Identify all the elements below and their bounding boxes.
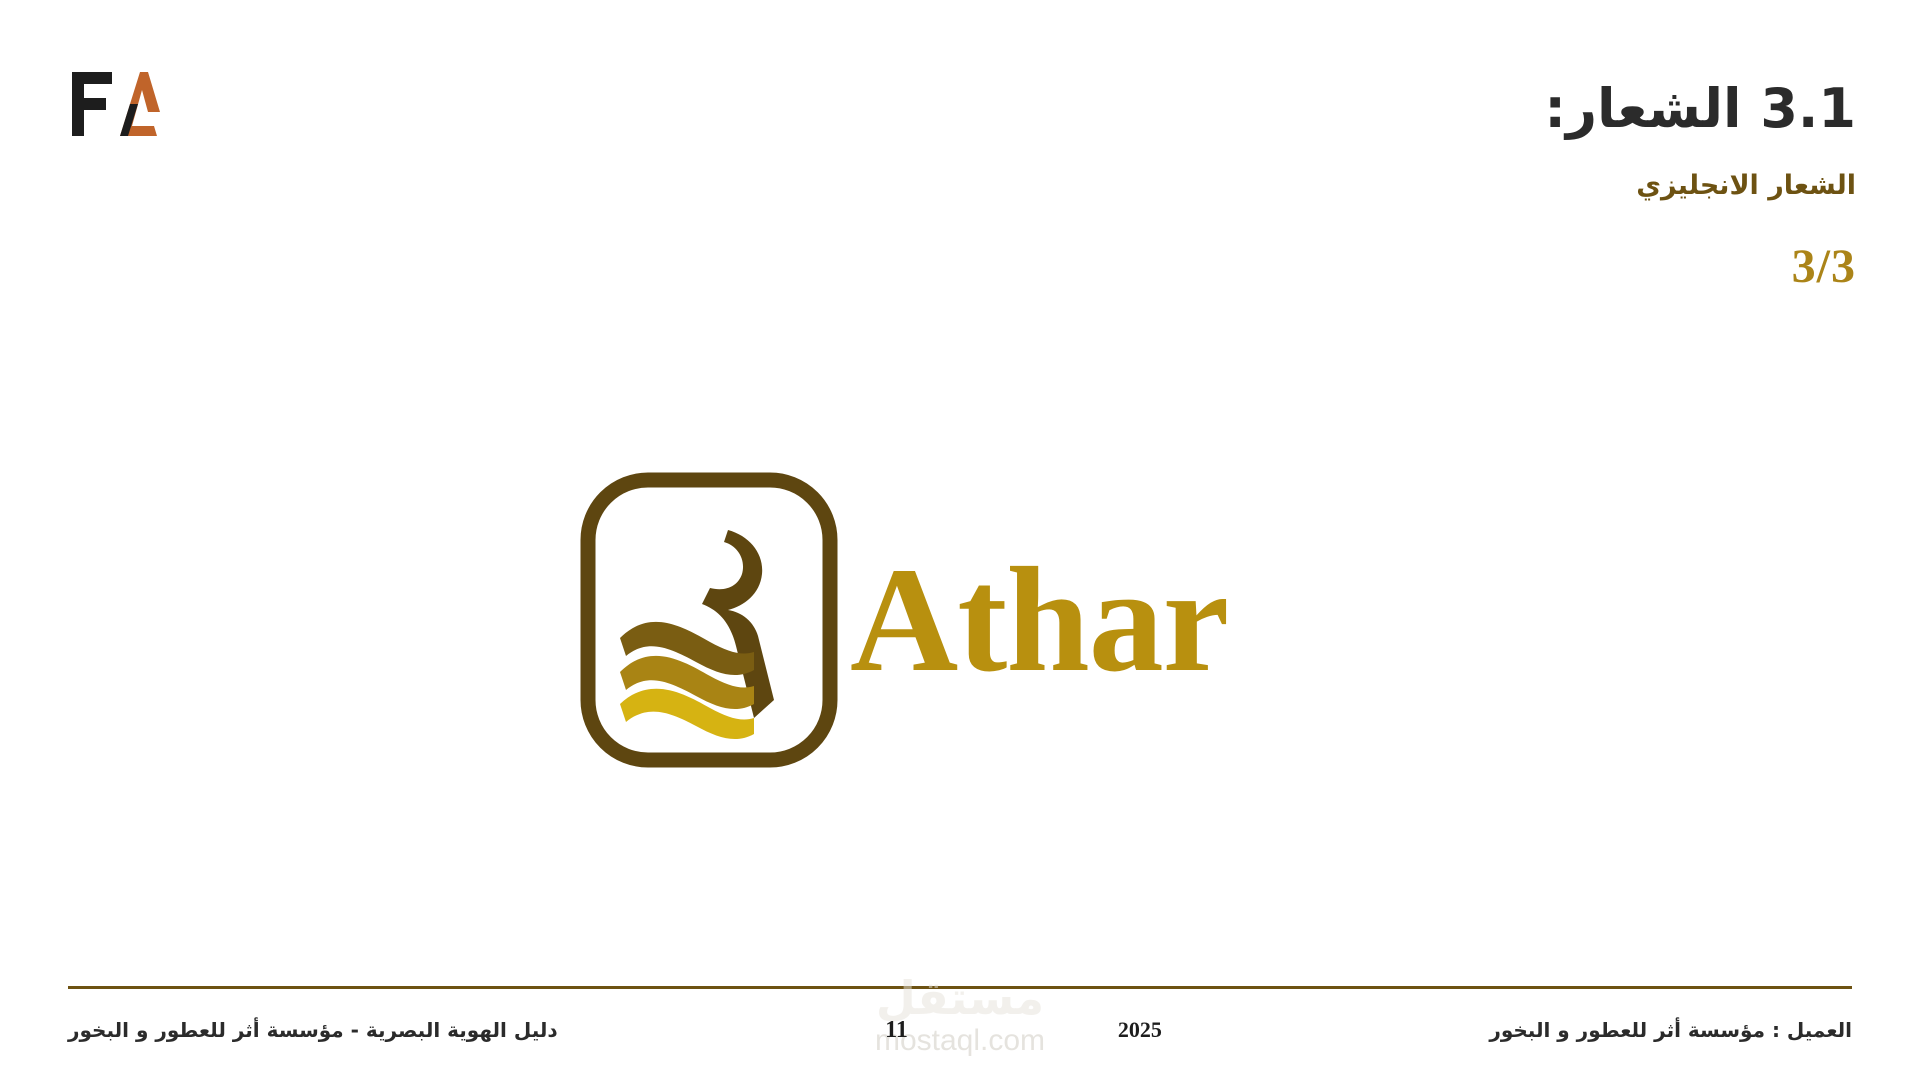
footer-document-title: دليل الهوية البصرية - مؤسسة أثر للعطور و… xyxy=(68,1018,558,1042)
brand-monogram-icon xyxy=(68,68,160,140)
page-title: 3.1 الشعار: xyxy=(1544,78,1856,140)
footer-center: 11 2025 xyxy=(885,1017,1162,1044)
variant-counter: 3/3 xyxy=(1544,239,1856,294)
slide-footer: دليل الهوية البصرية - مؤسسة أثر للعطور و… xyxy=(68,1010,1852,1050)
logo-lockup: Athar xyxy=(578,470,1228,770)
footer-divider xyxy=(68,986,1852,989)
logo-wordmark: Athar xyxy=(850,545,1228,695)
footer-year: 2025 xyxy=(1118,1017,1162,1043)
athar-badge-icon xyxy=(578,470,840,770)
page-subtitle: الشعار الانجليزي xyxy=(1544,170,1856,201)
page-number: 11 xyxy=(885,1017,908,1044)
slide-header: 3.1 الشعار: الشعار الانجليزي 3/3 xyxy=(1544,78,1856,294)
footer-client: العميل : مؤسسة أثر للعطور و البخور xyxy=(1489,1018,1852,1042)
